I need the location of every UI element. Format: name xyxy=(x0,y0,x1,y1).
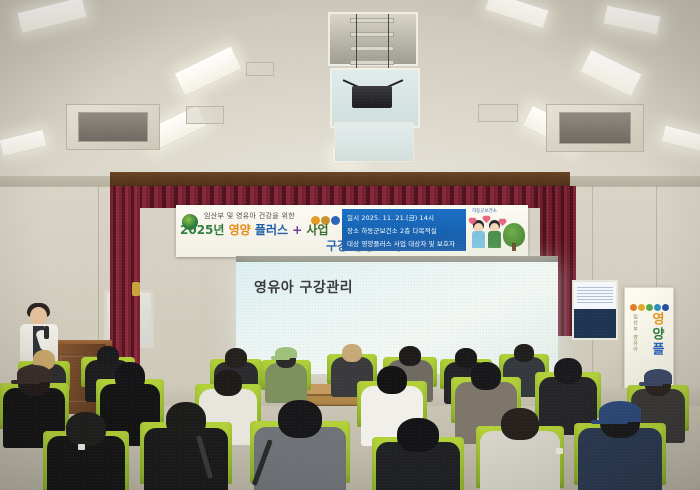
banner-title-main: 영양 xyxy=(229,223,251,237)
vertical-banner-sub: 임산부 영유아 xyxy=(632,314,639,353)
ac-grille-icon xyxy=(78,112,148,142)
person-body-icon xyxy=(472,231,485,248)
ceiling-access-panel xyxy=(186,106,224,124)
banner-info-target: 대상 영양플러스 사업 대상자 및 보호자 xyxy=(347,238,470,248)
cap-icon xyxy=(644,369,672,384)
banner-info-box: 일시 2025. 11. 21.(금) 14시 장소 하동군보건소 2층 다목적… xyxy=(342,209,470,251)
audience-member-head xyxy=(399,346,421,366)
banner-title-tail: 사업 xyxy=(306,223,328,237)
audience-member-head xyxy=(97,346,119,366)
ceiling-access-panel xyxy=(478,104,518,122)
banner-title-year: 2025년 xyxy=(180,223,224,237)
ac-grille-icon xyxy=(559,112,632,143)
audience-member-head xyxy=(514,344,534,362)
lecture-hall-photo: 임산부 및 영유아 건강을 위한 2025년 영양 플러스 + 사업 구강·영양… xyxy=(0,0,700,490)
ceiling-ac-unit xyxy=(66,104,160,150)
audience-member-head xyxy=(342,344,362,362)
audience-member-head xyxy=(66,412,106,446)
audience-member-head xyxy=(471,362,501,390)
audience-member-head xyxy=(166,402,206,438)
banner-illustration: 하동군보건소 xyxy=(466,205,528,257)
event-banner: 임산부 및 영유아 건강을 위한 2025년 영양 플러스 + 사업 구강·영양… xyxy=(176,205,528,257)
audience-member-head xyxy=(377,366,407,394)
illustration-person-mother xyxy=(472,223,485,249)
banner-info-place: 장소 하동군보건소 2층 다목적실 xyxy=(347,225,470,235)
projector-icon xyxy=(352,86,392,108)
microphone-icon xyxy=(44,326,49,339)
cap-icon xyxy=(599,401,641,422)
audience-member-head xyxy=(115,362,145,392)
ceiling-ac-unit xyxy=(546,104,644,152)
audience-member-torso xyxy=(265,363,307,403)
wall-poster xyxy=(572,280,618,340)
banner-info-date: 일시 2025. 11. 21.(금) 14시 xyxy=(347,212,470,222)
ceiling-access-panel xyxy=(246,62,274,76)
poster-text-lines xyxy=(577,285,613,303)
audience-member-head xyxy=(501,408,539,440)
banner-title-mark: + xyxy=(292,223,302,237)
cup-item xyxy=(556,448,563,454)
cup-item xyxy=(78,444,85,450)
vb-char-3: 플 xyxy=(649,342,664,357)
person-body-icon xyxy=(488,231,501,248)
curtain-tieback xyxy=(132,282,140,296)
audience-member-head xyxy=(455,348,477,368)
audience-member-head xyxy=(214,370,242,396)
lift-cable-right xyxy=(388,14,389,72)
banner-org-logo: 하동군보건소 xyxy=(472,208,497,214)
audience-member-head xyxy=(554,358,582,384)
cap-icon xyxy=(17,365,51,382)
audience-member-head xyxy=(397,418,439,452)
lift-cable-left xyxy=(356,14,357,72)
audience-member-head xyxy=(225,348,247,368)
illustration-person-nurse xyxy=(488,223,501,249)
projector-skirt xyxy=(334,122,414,162)
audience-member-head xyxy=(278,400,322,438)
cap-icon xyxy=(275,347,297,358)
vb-char-2: 양 xyxy=(649,327,664,342)
vb-char-1: 영 xyxy=(649,312,664,327)
vertical-banner-main: 영양플 xyxy=(647,312,666,357)
tree-icon xyxy=(503,223,525,247)
slide-title: 영유아 구강관리 xyxy=(254,277,353,297)
banner-title-plus: 플러스 xyxy=(255,223,288,237)
heart-icon xyxy=(483,216,490,223)
banner-title: 2025년 영양 플러스 + 사업 xyxy=(180,221,329,238)
banner-tagline: 임산부 및 영유아 건강을 위한 xyxy=(204,211,295,221)
